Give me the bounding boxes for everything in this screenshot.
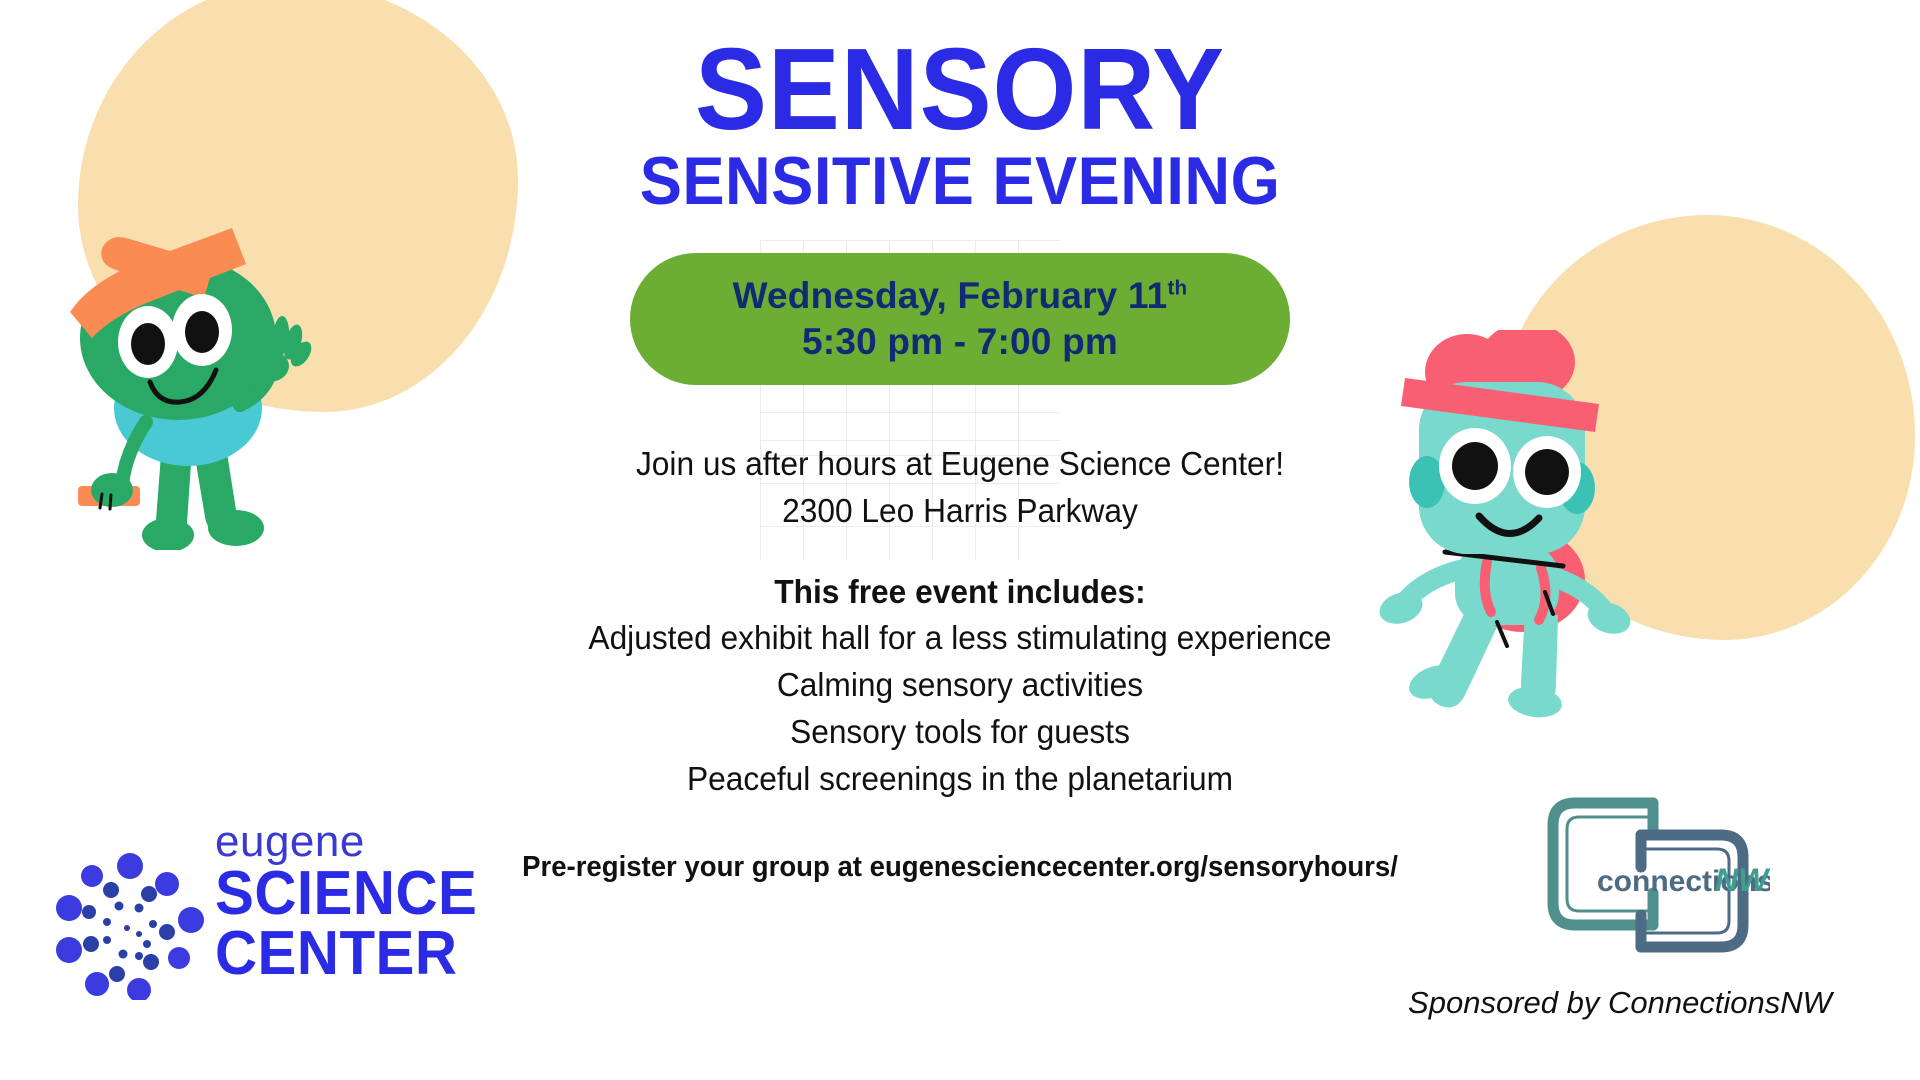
esc-wordmark: eugene SCIENCE CENTER [215, 820, 494, 983]
swirl-dots-icon [55, 850, 215, 1000]
copy-spacer [390, 535, 1530, 569]
event-time: 5:30 pm - 7:00 pm [802, 319, 1118, 365]
sponsor-credit: Sponsored by ConnectionsNW [1380, 985, 1860, 1021]
eugene-science-center-logo: eugene SCIENCE CENTER [55, 820, 435, 1010]
main-content-column: SENSORY SENSITIVE EVENING Wednesday, Feb… [390, 0, 1530, 1080]
flyer-canvas: SENSORY SENSITIVE EVENING Wednesday, Feb… [0, 0, 1920, 1080]
includes-heading: This free event includes: [413, 569, 1507, 616]
includes-item: Peaceful screenings in the planetarium [413, 756, 1507, 803]
includes-item: Adjusted exhibit hall for a less stimula… [413, 615, 1507, 662]
interlocking-brackets-icon: connections NW [1545, 795, 1770, 960]
esc-eugene-text: eugene [215, 820, 494, 864]
page-title-primary: SENSORY [430, 34, 1490, 145]
venue-address: 2300 Leo Harris Parkway [413, 488, 1507, 535]
includes-item: Calming sensory activities [413, 662, 1507, 709]
esc-center-text: CENTER [215, 924, 477, 984]
connections-nw-logo: connections NW [1545, 795, 1770, 960]
event-description-block: Join us after hours at Eugene Science Ce… [390, 441, 1530, 803]
event-date: Wednesday, February 11th [733, 273, 1188, 319]
intro-line-1: Join us after hours at Eugene Science Ce… [413, 441, 1507, 488]
includes-item: Sensory tools for guests [413, 709, 1507, 756]
cnw-nw-text: NW [1715, 862, 1770, 898]
registration-callout[interactable]: Pre-register your group at eugenescience… [419, 851, 1502, 884]
esc-science-text: SCIENCE [215, 864, 477, 924]
event-date-text: Wednesday, February 11 [733, 275, 1168, 316]
page-title-secondary: SENSITIVE EVENING [430, 145, 1490, 218]
mascot-green-character [50, 190, 330, 550]
event-date-ordinal: th [1167, 276, 1187, 299]
date-time-banner: Wednesday, February 11th 5:30 pm - 7:00 … [630, 253, 1290, 385]
